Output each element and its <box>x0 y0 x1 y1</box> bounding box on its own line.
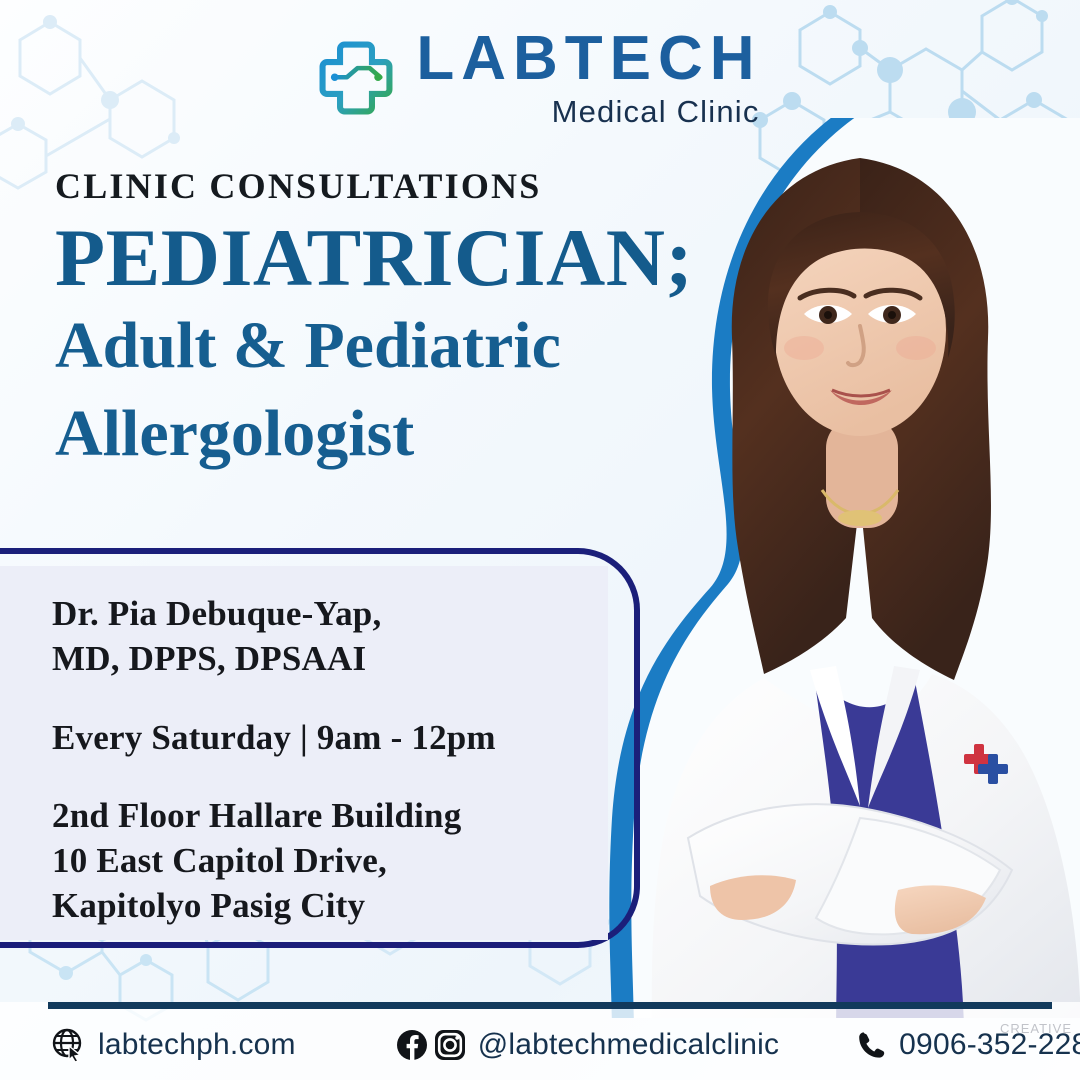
facebook-icon[interactable] <box>396 1029 428 1061</box>
social-handle-text: @labtechmedicalclinic <box>478 1028 779 1062</box>
website-contact[interactable]: labtechph.com <box>52 1028 296 1062</box>
schedule: Every Saturday | 9am - 12pm <box>52 716 612 761</box>
spacer-two <box>52 760 612 794</box>
doctor-credentials: MD, DPPS, DPSAAI <box>52 637 612 682</box>
website-text: labtechph.com <box>98 1028 296 1062</box>
globe-cursor-icon <box>52 1028 86 1062</box>
poster-canvas: LABTECH Medical Clinic CLINIC CONSULTATI… <box>0 0 1080 1080</box>
address-line-3: Kapitolyo Pasig City <box>52 884 612 929</box>
footer-bar: labtechph.com @labtechmedicalclinic <box>0 1002 1080 1080</box>
brand-header: LABTECH Medical Clinic <box>0 28 1080 127</box>
social-contact[interactable]: @labtechmedicalclinic <box>396 1028 779 1062</box>
watermark: CREATIVE <box>1000 1021 1072 1036</box>
instagram-icon[interactable] <box>434 1029 466 1061</box>
address-line-2: 10 East Capitol Drive, <box>52 839 612 884</box>
footer-divider <box>48 1002 1052 1009</box>
phone-icon <box>857 1030 887 1060</box>
medical-cross-circuit-icon <box>318 40 394 116</box>
necklace-pendant <box>838 510 882 526</box>
address-line-1: 2nd Floor Hallare Building <box>52 794 612 839</box>
info-card: Dr. Pia Debuque-Yap, MD, DPPS, DPSAAI Ev… <box>52 592 612 929</box>
doctor-name: Dr. Pia Debuque-Yap, <box>52 592 612 637</box>
brand-name: LABTECH <box>416 28 761 90</box>
spacer <box>52 682 612 716</box>
